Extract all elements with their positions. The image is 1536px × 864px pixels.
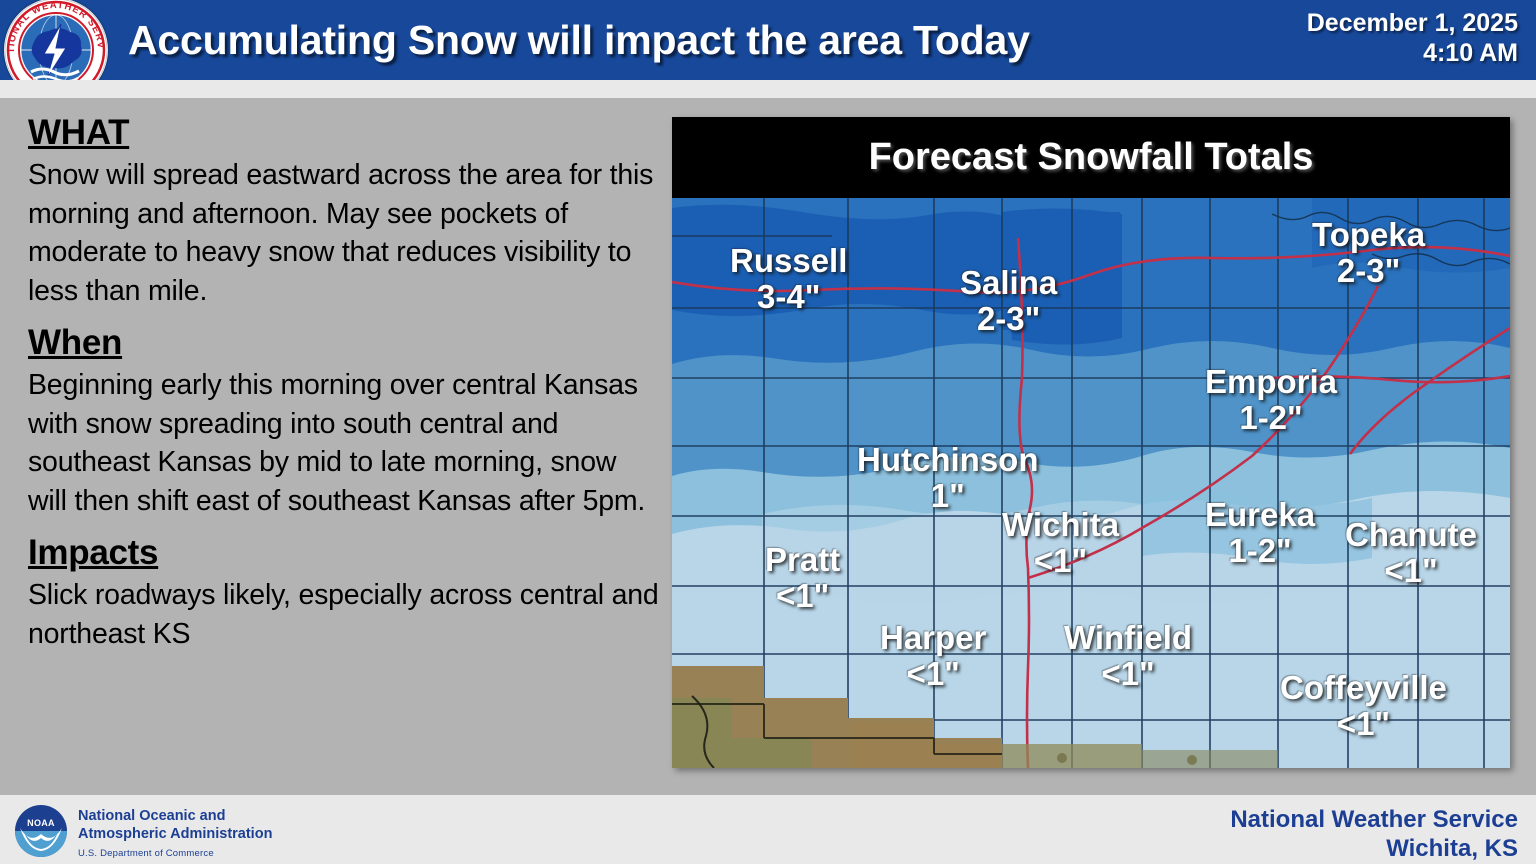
section-impacts-heading: Impacts <box>28 532 660 574</box>
noaa-line-2: Atmospheric Administration <box>78 825 272 843</box>
noaa-line-3: U.S. Department of Commerce <box>78 845 272 863</box>
noaa-seal-icon: NOAA <box>14 804 68 858</box>
section-what-body: Snow will spread eastward across the are… <box>28 156 660 310</box>
nws-office-line-2: Wichita, KS <box>1058 834 1518 863</box>
forecast-map: Forecast Snowfall Totals <box>672 117 1510 768</box>
section-what: WHAT Snow will spread eastward across th… <box>28 112 660 310</box>
header-divider-strip <box>0 80 1536 98</box>
section-when-body: Beginning early this morning over centra… <box>28 366 660 520</box>
header-bar: NATIONAL WEATHER SERVICE ★ ★ ★ Accumulat… <box>0 0 1536 80</box>
section-impacts: Impacts Slick roadways likely, especiall… <box>28 532 660 653</box>
section-when-heading: When <box>28 322 660 364</box>
section-what-heading: WHAT <box>28 112 660 154</box>
header-time-line: 4:10 AM <box>1118 38 1518 68</box>
section-impacts-body: Slick roadways likely, especially across… <box>28 576 660 653</box>
snowfall-contour-map <box>672 198 1510 768</box>
noaa-line-1: National Oceanic and <box>78 807 272 825</box>
svg-text:NOAA: NOAA <box>27 818 55 828</box>
headline-title: Accumulating Snow will impact the area T… <box>128 6 1228 74</box>
header-date-line: December 1, 2025 <box>1118 8 1518 38</box>
footer-bar: NOAA National Oceanic and Atmospheric Ad… <box>0 795 1536 864</box>
nws-office-line-1: National Weather Service <box>1058 805 1518 834</box>
header-timestamp: December 1, 2025 4:10 AM <box>1118 8 1518 68</box>
map-title: Forecast Snowfall Totals <box>672 117 1510 198</box>
section-when: When Beginning early this morning over c… <box>28 322 660 520</box>
map-canvas: Russell 3-4" Salina 2-3" Topeka 2-3" Emp… <box>672 198 1510 768</box>
nws-office-text: National Weather Service Wichita, KS <box>1058 805 1518 863</box>
weather-graphic-page: NATIONAL WEATHER SERVICE ★ ★ ★ Accumulat… <box>0 0 1536 864</box>
noaa-agency-text: National Oceanic and Atmospheric Adminis… <box>78 807 272 863</box>
info-panel: WHAT Snow will spread eastward across th… <box>28 112 660 772</box>
